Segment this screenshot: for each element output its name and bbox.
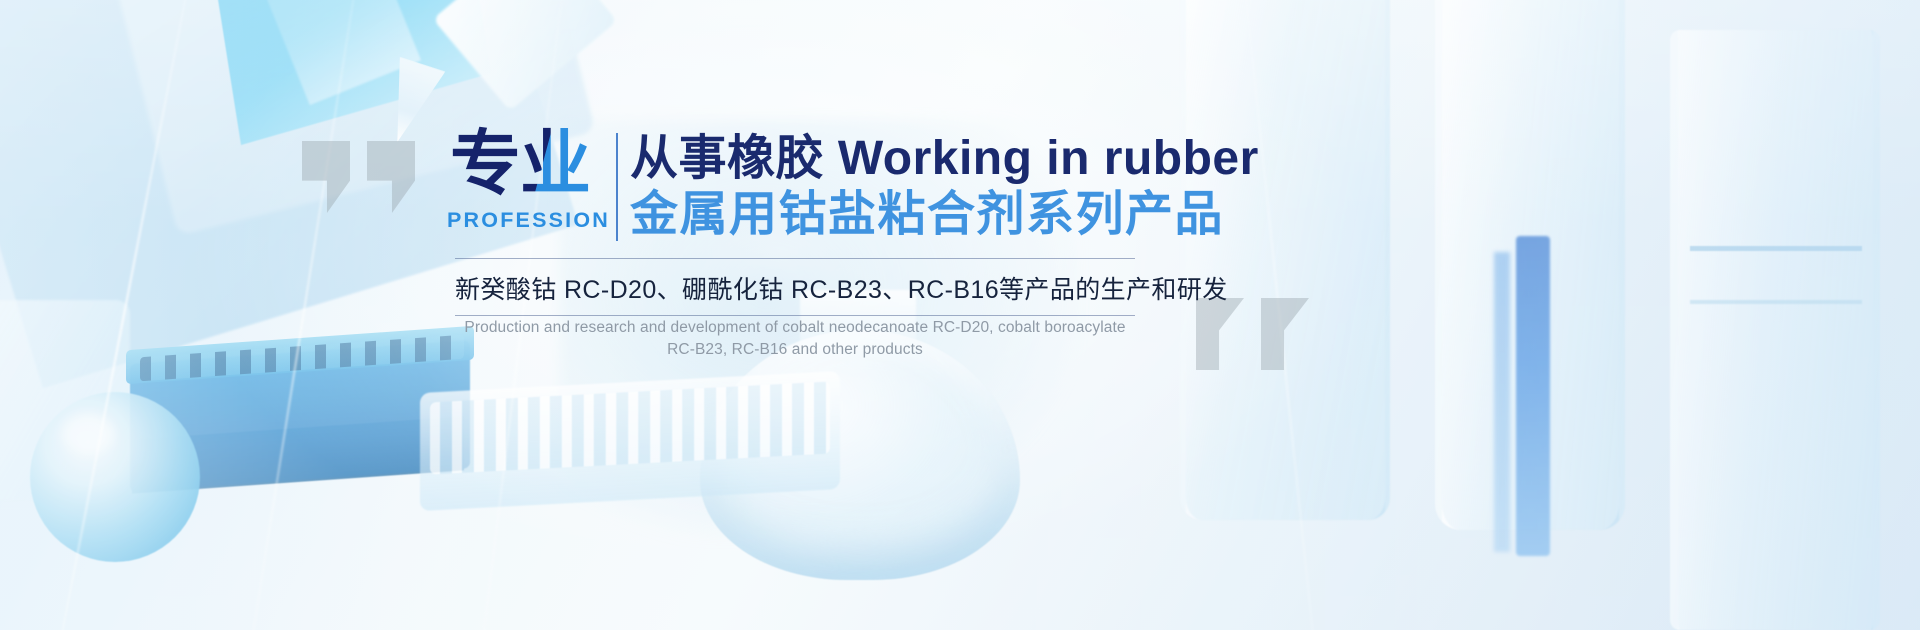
profession-logo: 专业 PROFESSION bbox=[447, 131, 593, 233]
english-description: Production and research and development … bbox=[455, 317, 1135, 362]
profession-logo-chinese: 专业 bbox=[447, 131, 593, 199]
quote-glyph-right-1 bbox=[1196, 298, 1244, 370]
subtitle-text: 新癸酸钴 RC-D20、硼酰化钴 RC-B23、RC-B16等产品的生产和研发 bbox=[455, 259, 1135, 315]
profession-logo-english: PROFESSION bbox=[447, 208, 593, 233]
subtitle-rule-top bbox=[455, 258, 1135, 259]
headline-secondary: 金属用钴盐粘合剂系列产品 bbox=[630, 189, 1224, 241]
quote-glyph-left-2 bbox=[367, 141, 415, 213]
headline-primary: 从事橡胶 Working in rubber bbox=[630, 133, 1259, 185]
hero-banner: 专业 PROFESSION 从事橡胶 Working in rubber 金属用… bbox=[0, 0, 1920, 630]
quote-glyph-right-2 bbox=[1261, 298, 1309, 370]
profession-logo-char-2: 业 bbox=[520, 125, 590, 204]
logo-vertical-divider bbox=[616, 133, 618, 241]
subtitle-block: 新癸酸钴 RC-D20、硼酰化钴 RC-B23、RC-B16等产品的生产和研发 bbox=[455, 258, 1135, 316]
quote-glyph-left-1 bbox=[302, 141, 350, 213]
subtitle-rule-bottom bbox=[455, 315, 1135, 316]
english-description-line-1: Production and research and development … bbox=[464, 319, 1125, 336]
profession-logo-char-1: 专 bbox=[450, 125, 520, 204]
opening-quote-icon bbox=[302, 141, 415, 213]
english-description-line-2: RC-B23, RC-B16 and other products bbox=[455, 339, 1135, 361]
closing-quote-icon bbox=[1196, 298, 1309, 370]
